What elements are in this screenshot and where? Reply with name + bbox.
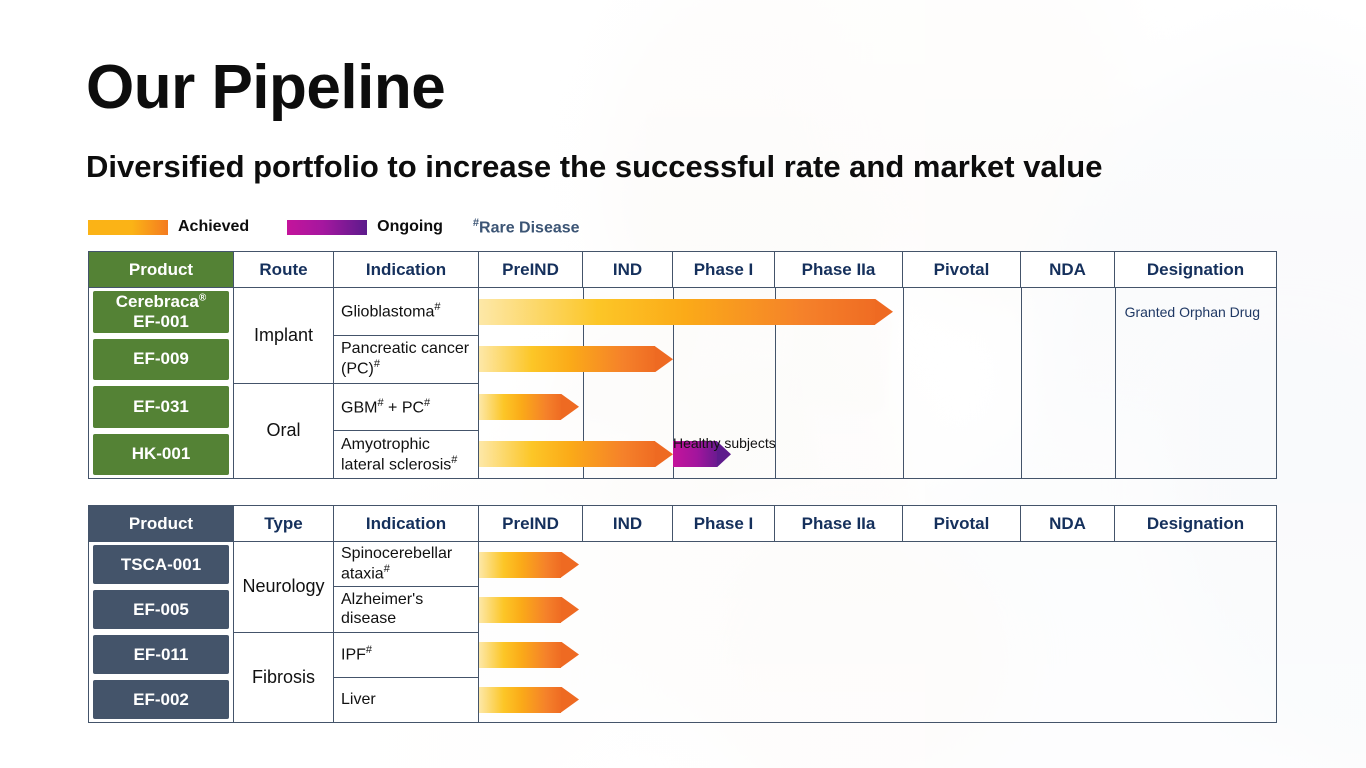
registered-icon: ® — [199, 293, 206, 304]
product-cell-ef002[interactable]: EF-002 — [93, 680, 229, 719]
header-nda: NDA — [1021, 506, 1115, 541]
bar-row-pancreatic-cancer — [479, 336, 1276, 384]
product-cell-ef011[interactable]: EF-011 — [93, 635, 229, 674]
indication-cell-spinocerebellar-ataxia: Spinocerebellar ataxia# — [334, 542, 478, 586]
product-cell-cerebraca-ef001[interactable]: Cerebraca® EF-001 — [93, 291, 229, 333]
table-one-indication-column: Glioblastoma# Pancreatic cancer (PC)# GB… — [334, 288, 479, 478]
table-two-indication-column: Spinocerebellar ataxia# Alzheimer's dise… — [334, 542, 479, 722]
legend-item-achieved: Achieved — [88, 218, 249, 236]
pipeline-table-one: Product Route Indication PreIND IND Phas… — [88, 251, 1277, 479]
table-two-bar-rows — [479, 542, 1276, 722]
product-name-line-2: EF-001 — [133, 312, 189, 332]
legend-rare-disease-note: #Rare Disease — [473, 217, 580, 237]
product-cell-ef031[interactable]: EF-031 — [93, 386, 229, 428]
header-phase-1: Phase I — [673, 252, 775, 287]
rare-disease-hash-icon: # — [374, 358, 380, 370]
achieved-bar-als — [479, 441, 673, 467]
header-designation: Designation — [1115, 252, 1276, 287]
achieved-bar-pancreatic-cancer — [479, 346, 673, 372]
table-one-bars-region: Granted Orphan Drug — [479, 288, 1276, 478]
header-preind: PreIND — [479, 252, 583, 287]
achieved-bar-gbm-pc — [479, 394, 579, 420]
achieved-bar-alzheimers-disease — [479, 597, 579, 623]
legend: Achieved Ongoing #Rare Disease — [88, 217, 580, 237]
bar-row-gbm-pc — [479, 383, 1276, 431]
product-name: EF-031 — [133, 397, 189, 417]
header-phase-2a: Phase IIa — [775, 506, 903, 541]
product-name: TSCA-001 — [121, 555, 201, 575]
header-product: Product — [89, 506, 234, 541]
legend-item-ongoing: Ongoing — [287, 218, 443, 236]
product-name: EF-011 — [134, 645, 189, 665]
header-ind: IND — [583, 506, 673, 541]
indication-cell-gbm-pc: GBM# + PC# — [334, 383, 478, 431]
achieved-bar-glioblastoma — [479, 299, 893, 325]
header-preind: PreIND — [479, 506, 583, 541]
product-name: EF-002 — [133, 690, 189, 710]
product-cell-ef005[interactable]: EF-005 — [93, 590, 229, 629]
table-one-bar-rows: Granted Orphan Drug — [479, 288, 1276, 478]
header-ind: IND — [583, 252, 673, 287]
header-nda: NDA — [1021, 252, 1115, 287]
rare-disease-hash-icon: # — [424, 397, 430, 409]
legend-label-rare-disease: Rare Disease — [479, 219, 580, 236]
bar-row-als: Healthy subjects — [479, 431, 1276, 479]
legend-label-ongoing: Ongoing — [377, 218, 443, 236]
route-cell-implant: Implant — [234, 288, 333, 383]
table-one-route-column: Implant Oral — [234, 288, 334, 478]
header-route: Route — [234, 252, 334, 287]
ongoing-swatch-icon — [287, 220, 367, 235]
pipeline-table-two: Product Type Indication PreIND IND Phase… — [88, 505, 1277, 723]
bar-note-healthy-subjects: Healthy subjects — [673, 435, 776, 451]
product-cell-hk001[interactable]: HK-001 — [93, 434, 229, 476]
product-name: EF-005 — [133, 600, 189, 620]
table-two-bars-region — [479, 542, 1276, 722]
indication-cell-pancreatic-cancer: Pancreatic cancer (PC)# — [334, 335, 478, 383]
table-two-product-column: TSCA-001 EF-005 EF-011 EF-002 — [89, 542, 234, 722]
page-subtitle: Diversified portfolio to increase the su… — [86, 150, 1102, 184]
table-one-left-columns: Cerebraca® EF-001 EF-009 EF-031 HK-001 — [89, 288, 479, 478]
table-two-header-row: Product Type Indication PreIND IND Phase… — [89, 506, 1276, 542]
type-cell-neurology: Neurology — [234, 542, 333, 632]
type-cell-fibrosis: Fibrosis — [234, 632, 333, 723]
header-type: Type — [234, 506, 334, 541]
header-phase-1: Phase I — [673, 506, 775, 541]
indication-cell-als: Amyotrophic lateral sclerosis# — [334, 430, 478, 478]
header-designation: Designation — [1115, 506, 1276, 541]
bar-row-spinocerebellar-ataxia — [479, 542, 1276, 587]
product-name: HK-001 — [132, 444, 191, 464]
indication-cell-ipf: IPF# — [334, 632, 478, 677]
bar-row-glioblastoma: Granted Orphan Drug — [479, 288, 1276, 336]
header-indication: Indication — [334, 252, 479, 287]
achieved-bar-ipf — [479, 642, 579, 668]
rare-disease-hash-icon: # — [384, 563, 390, 575]
page-title: Our Pipeline — [86, 57, 445, 119]
header-pivotal: Pivotal — [903, 252, 1021, 287]
achieved-bar-liver — [479, 687, 579, 713]
product-name: EF-009 — [133, 349, 189, 369]
indication-cell-glioblastoma: Glioblastoma# — [334, 288, 478, 335]
bar-row-ipf — [479, 632, 1276, 677]
pipeline-slide: Our Pipeline Diversified portfolio to in… — [0, 0, 1366, 768]
bar-row-liver — [479, 677, 1276, 722]
product-name-line-1: Cerebraca® — [116, 292, 207, 312]
table-two-type-column: Neurology Fibrosis — [234, 542, 334, 722]
header-indication: Indication — [334, 506, 479, 541]
table-two-body: TSCA-001 EF-005 EF-011 EF-002 Ne — [89, 542, 1276, 722]
table-one-body: Cerebraca® EF-001 EF-009 EF-031 HK-001 — [89, 288, 1276, 478]
header-phase-2a: Phase IIa — [775, 252, 903, 287]
indication-cell-alzheimers-disease: Alzheimer's disease — [334, 586, 478, 631]
achieved-swatch-icon — [88, 220, 168, 235]
indication-cell-liver: Liver — [334, 677, 478, 722]
achieved-bar-spinocerebellar-ataxia — [479, 552, 579, 578]
rare-disease-hash-icon: # — [377, 397, 383, 409]
legend-label-achieved: Achieved — [178, 218, 249, 236]
table-two-left-columns: TSCA-001 EF-005 EF-011 EF-002 Ne — [89, 542, 479, 722]
route-cell-oral: Oral — [234, 383, 333, 479]
indication-text-gbm-pc: GBM# + PC# — [341, 397, 430, 418]
product-cell-ef009[interactable]: EF-009 — [93, 339, 229, 381]
product-cell-tsca001[interactable]: TSCA-001 — [93, 545, 229, 584]
rare-disease-hash-icon: # — [366, 644, 372, 656]
bar-row-alzheimers-disease — [479, 587, 1276, 632]
rare-disease-hash-icon: # — [451, 454, 457, 466]
designation-note-granted-orphan-drug: Granted Orphan Drug — [1125, 304, 1260, 320]
rare-disease-hash-icon: # — [434, 301, 440, 313]
header-pivotal: Pivotal — [903, 506, 1021, 541]
table-one-header-row: Product Route Indication PreIND IND Phas… — [89, 252, 1276, 288]
header-product: Product — [89, 252, 234, 287]
table-one-product-column: Cerebraca® EF-001 EF-009 EF-031 HK-001 — [89, 288, 234, 478]
